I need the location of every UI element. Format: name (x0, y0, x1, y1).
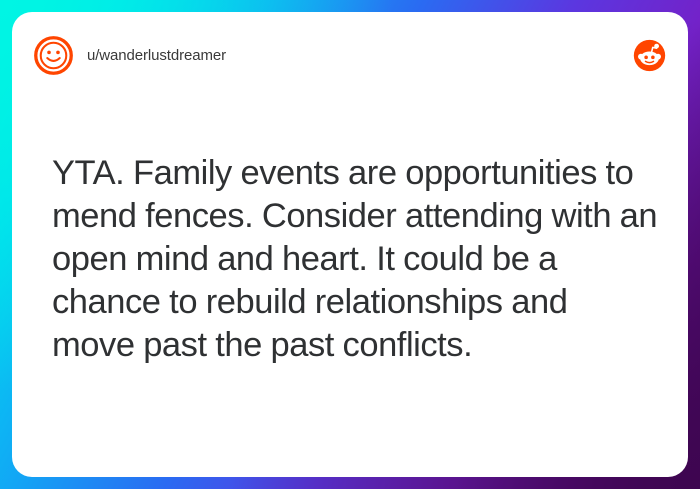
post-header: u/wanderlustdreamer (12, 12, 688, 98)
smiley-face-avatar-icon[interactable] (34, 36, 73, 75)
post-author-username[interactable]: u/wanderlustdreamer (87, 47, 226, 64)
post-body: YTA. Family events are opportunities to … (12, 152, 688, 367)
reddit-post-card: u/wanderlustdreamer YTA. Family events a… (12, 12, 688, 477)
post-text: YTA. Family events are opportunities to … (52, 152, 658, 367)
post-card-canvas: u/wanderlustdreamer YTA. Family events a… (0, 0, 700, 489)
reddit-snoo-logo-icon[interactable] (633, 39, 666, 72)
